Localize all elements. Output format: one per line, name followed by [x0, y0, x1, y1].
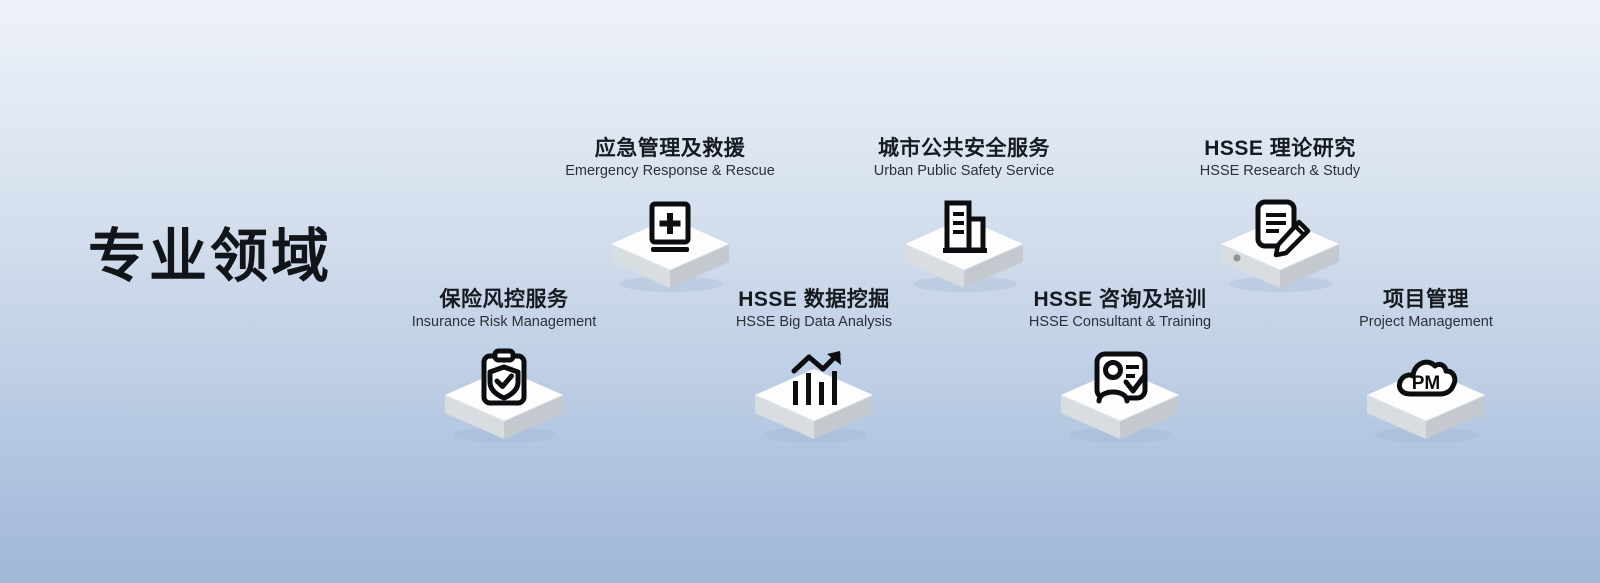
pedestal-wrap — [814, 190, 1114, 298]
pedestal-wrap — [1130, 190, 1430, 298]
service-item-emergency-response-rescue[interactable]: 应急管理及救援 Emergency Response & Rescue — [520, 138, 820, 298]
service-label-en: Urban Public Safety Service — [814, 164, 1114, 180]
service-item-hsse-research-study[interactable]: HSSE 理论研究 HSSE Research & Study — [1130, 138, 1430, 298]
service-label-cn: 应急管理及救援 — [520, 138, 820, 160]
clipboard-shield-check-icon — [472, 349, 536, 413]
first-aid-kit-icon — [638, 198, 702, 262]
city-buildings-icon — [932, 198, 996, 262]
page-title: 专业领域 — [88, 228, 332, 286]
service-label-cn: 项目管理 — [1276, 289, 1576, 311]
bar-chart-trend-up-icon — [782, 349, 846, 413]
pedestal-wrap: PM — [1276, 341, 1576, 449]
pedestal-wrap — [664, 341, 964, 449]
service-label-cn: HSSE 咨询及培训 — [970, 289, 1270, 311]
service-label-en: Insurance Risk Management — [354, 315, 654, 331]
service-label-en: Emergency Response & Rescue — [520, 164, 820, 180]
service-item-urban-public-safety-service[interactable]: 城市公共安全服务 Urban Public Safety Service — [814, 138, 1114, 298]
service-label-cn: 城市公共安全服务 — [814, 138, 1114, 160]
document-pencil-icon — [1248, 198, 1312, 262]
service-label-cn: HSSE 理论研究 — [1130, 138, 1430, 160]
service-item-hsse-big-data-analysis[interactable]: HSSE 数据挖掘 HSSE Big Data Analysis — [664, 289, 964, 449]
cloud-pm-icon: PM — [1394, 349, 1458, 413]
service-label-en: HSSE Consultant & Training — [970, 315, 1270, 331]
service-label-cn: 保险风控服务 — [354, 289, 654, 311]
pedestal-wrap — [520, 190, 820, 298]
cloud-pm-label: PM — [1412, 373, 1441, 394]
service-label-en: HSSE Research & Study — [1130, 164, 1430, 180]
pedestal-wrap — [354, 341, 654, 449]
service-label-en: HSSE Big Data Analysis — [664, 315, 964, 331]
person-id-card-check-icon — [1088, 349, 1152, 413]
service-item-project-management[interactable]: 项目管理 Project Management PM — [1276, 289, 1576, 449]
pedestal-wrap — [970, 341, 1270, 449]
professional-fields-banner: 专业领域 应急管理及救援 Emergency Response & Rescue — [0, 0, 1600, 583]
service-label-en: Project Management — [1276, 315, 1576, 331]
service-item-hsse-consultant-training[interactable]: HSSE 咨询及培训 HSSE Consultant & Training — [970, 289, 1270, 449]
service-item-insurance-risk-management[interactable]: 保险风控服务 Insurance Risk Management — [354, 289, 654, 449]
service-label-cn: HSSE 数据挖掘 — [664, 289, 964, 311]
